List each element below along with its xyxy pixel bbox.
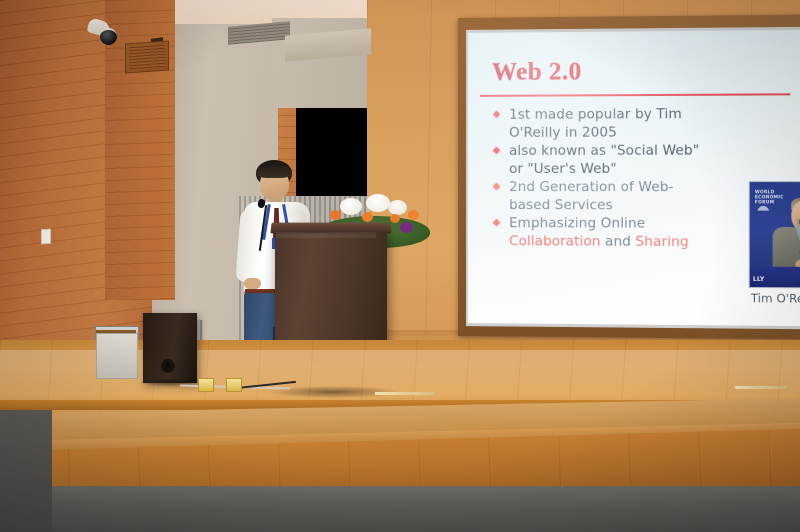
lectern-shelf xyxy=(276,232,376,238)
highlight-sharing: Sharing xyxy=(635,234,688,249)
bullet-item-2: also known as "Social Web" or "User's We… xyxy=(492,142,734,178)
bullet-line: also known as "Social Web" xyxy=(509,144,699,159)
presentation-photo: Web 2.0 1st made popular by Tim O'Reilly… xyxy=(0,0,800,532)
orange-flower xyxy=(408,210,419,220)
stage-subwoofer xyxy=(143,313,197,383)
white-lily xyxy=(388,200,407,215)
chair-back xyxy=(96,333,138,379)
white-lily xyxy=(340,198,362,215)
bullet-item-3: 2nd Generation of Web- based Services xyxy=(492,179,734,215)
floor-connector-box xyxy=(198,378,214,392)
slide-title: Web 2.0 xyxy=(492,58,582,87)
tim-oreilly-photo: WORLD ECONOMIC FORUM WORL LLY xyxy=(749,181,800,289)
bullet-item-4: Emphasizing Online Collaboration and Sha… xyxy=(492,215,734,251)
bullet-line: O'Reilly in 2005 xyxy=(509,125,617,140)
orange-flower xyxy=(390,214,400,223)
bullet-item-1: 1st made popular by Tim O'Reilly in 2005 xyxy=(492,106,734,142)
highlight-collaboration: Collaboration xyxy=(509,234,600,249)
floor-trim-strip xyxy=(375,392,435,395)
floor-trim-strip xyxy=(735,386,787,389)
white-lily xyxy=(366,194,390,212)
presenter-fringe xyxy=(257,165,291,178)
diamond-bullet-icon xyxy=(493,183,500,190)
bullet-line: or "User's Web" xyxy=(509,161,617,176)
floor-connector-box xyxy=(226,378,242,392)
wall-speaker xyxy=(125,40,169,73)
bullet-conjunction: and xyxy=(601,234,636,249)
security-camera-icon xyxy=(88,18,122,42)
orange-flower xyxy=(362,212,373,222)
presenter-hand xyxy=(244,278,261,289)
purple-flower xyxy=(400,222,413,233)
slide-surface: Web 2.0 1st made popular by Tim O'Reilly… xyxy=(468,30,800,326)
bullet-line: 1st made popular by Tim xyxy=(509,107,682,123)
diamond-bullet-icon xyxy=(493,111,500,118)
floor-carpet-left xyxy=(0,410,52,532)
bullet-line: 2nd Generation of Web- xyxy=(509,180,674,195)
light-switch[interactable] xyxy=(41,229,51,245)
wef-logo-icon xyxy=(756,206,771,211)
slide-bullet-list: 1st made popular by Tim O'Reilly in 2005… xyxy=(492,106,734,252)
photo-desk: LLY xyxy=(750,267,800,288)
wef-backdrop-text-left: WORLD ECONOMIC FORUM xyxy=(755,189,784,204)
slide-title-rule xyxy=(480,93,790,97)
orange-flower xyxy=(330,210,341,220)
photo-desk-text: LLY xyxy=(753,276,764,283)
projection-screen: Web 2.0 1st made popular by Tim O'Reilly… xyxy=(458,15,800,340)
diamond-bullet-icon xyxy=(493,147,500,154)
bullet-line: Emphasizing Online xyxy=(509,216,645,232)
diamond-bullet-icon xyxy=(493,219,500,226)
screen-bezel: Web 2.0 1st made popular by Tim O'Reilly… xyxy=(466,27,800,329)
photo-caption: Tim O'Re xyxy=(751,291,800,306)
bullet-line: based Services xyxy=(509,198,613,213)
camera-dome xyxy=(100,28,117,45)
floor-carpet xyxy=(0,486,800,532)
